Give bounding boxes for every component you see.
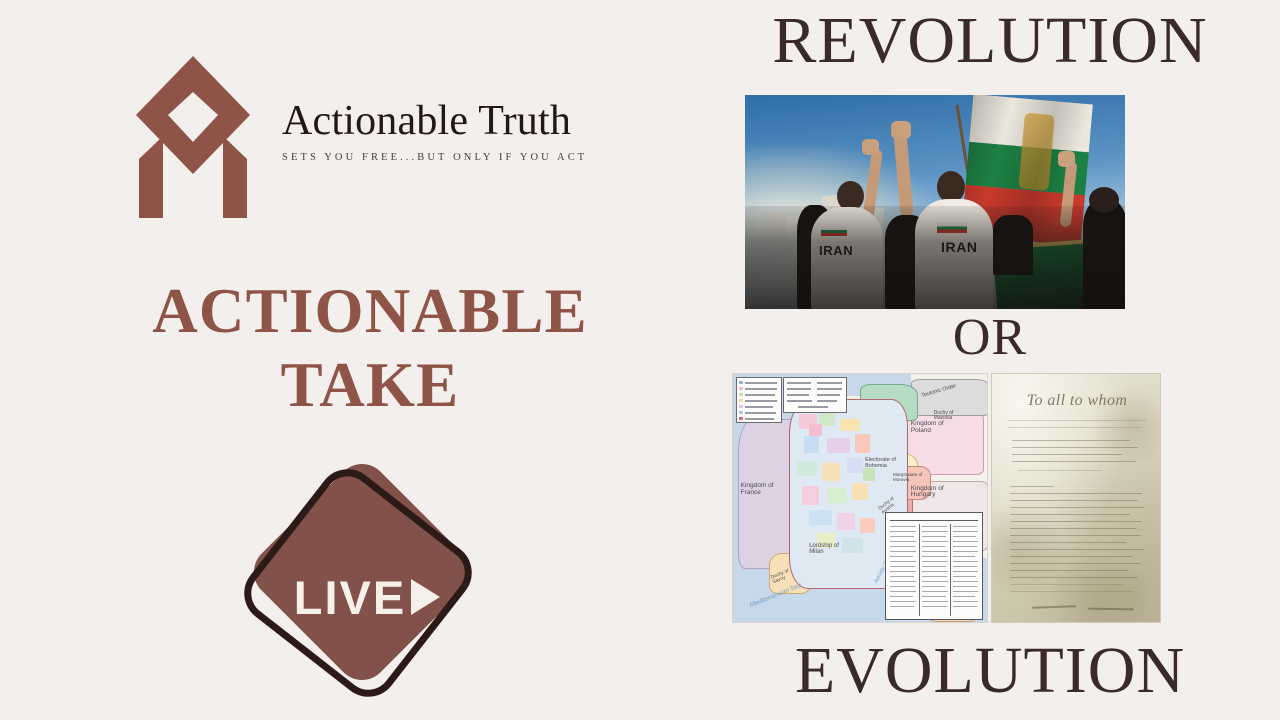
map-label-milan: Lordship of Milan [809, 543, 849, 556]
map-label-moravia: Margraviate of Moravia [893, 473, 927, 483]
map-territory [837, 513, 855, 530]
map-territory [827, 438, 850, 453]
heading-revolution: REVOLUTION [700, 8, 1280, 74]
map-territory [809, 510, 832, 525]
heading-or: OR [700, 312, 1280, 364]
actionable-truth-logo-icon [132, 52, 254, 222]
map-territory [822, 463, 840, 480]
photo-fist [1058, 151, 1075, 167]
brand-name: Actionable Truth [282, 100, 612, 144]
brand-text-block: Actionable Truth SETS YOU FREE...BUT ONL… [282, 100, 612, 163]
map-territory [802, 486, 820, 506]
map-label-france: Kingdom of France [741, 483, 795, 497]
protest-photo: IRAN IRAN [745, 95, 1125, 309]
map-territory [847, 458, 862, 473]
map-territory [840, 419, 860, 431]
map-territory [860, 518, 875, 533]
heading-evolution: EVOLUTION [700, 638, 1280, 704]
slide-canvas: Actionable Truth SETS YOU FREE...BUT ONL… [0, 0, 1280, 720]
live-badge[interactable]: LIVE [243, 452, 483, 700]
map-territory [827, 488, 847, 503]
photo-fist [891, 121, 911, 139]
map-territory [863, 468, 876, 480]
document-heading: To all to whom [1002, 392, 1152, 410]
left-panel: Actionable Truth SETS YOU FREE...BUT ONL… [0, 0, 700, 720]
map-territory [855, 434, 870, 454]
page-title: ACTIONABLE TAKE [100, 274, 640, 423]
map-label-poland: Kingdom of Poland [911, 421, 953, 435]
map-territory [804, 436, 819, 453]
live-badge-fill-shape [243, 453, 481, 691]
headline-line-2: TAKE [100, 348, 640, 422]
historical-map-image: Kingdom of France Electorate of Bohemia … [732, 373, 988, 623]
photo-crowd-shadow [745, 206, 1125, 309]
map-territory [797, 461, 817, 476]
map-label-bohemia: Electorate of Bohemia [865, 458, 911, 470]
map-inset-table [885, 512, 983, 620]
map-label-mazovia: Duchy of Mazovia [934, 411, 966, 422]
brand-tagline: SETS YOU FREE...BUT ONLY IF YOU ACT [282, 152, 612, 163]
brand-lockup: Actionable Truth SETS YOU FREE...BUT ONL… [132, 52, 612, 224]
map-territory [852, 483, 867, 500]
headline-line-1: ACTIONABLE [100, 274, 640, 348]
map-label-hungary: Kingdom of Hungary [911, 486, 957, 500]
map-territory [809, 424, 822, 436]
map-legend-right [783, 377, 847, 413]
photo-fist [862, 139, 879, 155]
right-panel: REVOLUTION [700, 0, 1280, 720]
parchment-document-image: To all to whom [991, 373, 1161, 623]
map-legend-left [736, 377, 782, 423]
